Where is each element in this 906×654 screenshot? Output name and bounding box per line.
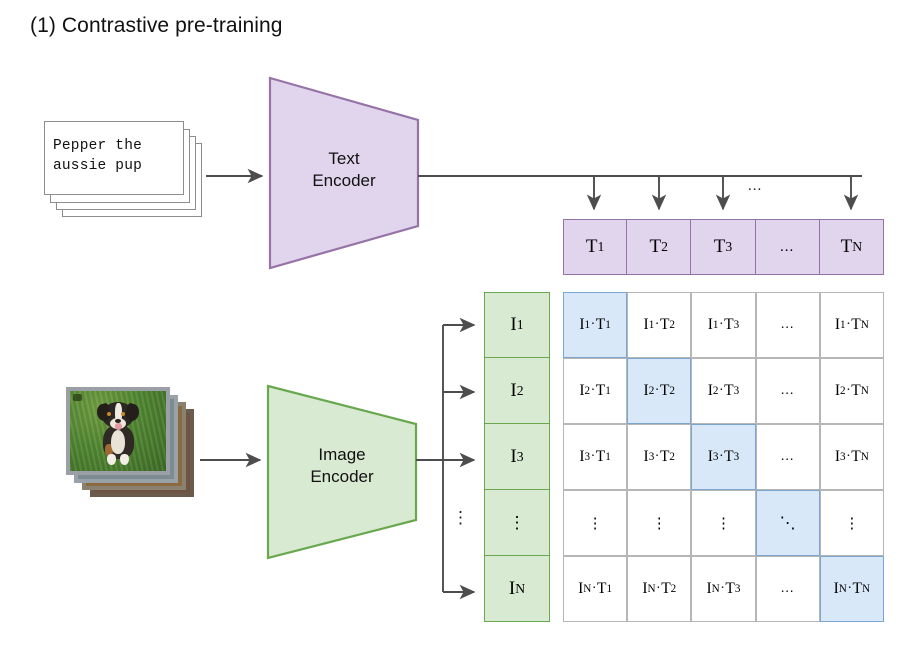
matrix-cell-r5-c3: IN·T3: [691, 556, 755, 622]
image-photo-stack: [66, 387, 196, 502]
image-embedding-distribution-wires: [416, 325, 474, 592]
text-embedding-ellipsis: ...: [748, 178, 762, 195]
text-encoder-label: Text Encoder: [268, 148, 420, 192]
image-embedding-cell-5: IN: [484, 556, 550, 622]
caption-card-front: Pepper the aussie pup: [44, 121, 184, 195]
matrix-cell-r1-c2: I1·T2: [627, 292, 691, 358]
image-embedding-column: I1I2I3⋮IN: [484, 292, 550, 622]
image-encoder-line-2: Encoder: [266, 466, 418, 488]
matrix-cell-r2-c2: I2·T2: [627, 358, 691, 424]
puppy-illustration: [94, 402, 142, 468]
matrix-cell-r3-c3: I3·T3: [691, 424, 755, 490]
matrix-cell-r5-c5: IN·TN: [820, 556, 884, 622]
image-embedding-cell-1: I1: [484, 292, 550, 358]
matrix-cell-r3-c2: I3·T2: [627, 424, 691, 490]
matrix-cell-r2-c5: I2·TN: [820, 358, 884, 424]
similarity-matrix: I1·T1I1·T2I1·T3...I1·TNI2·T1I2·T2I2·T3..…: [563, 292, 884, 622]
text-embedding-row: T1T2T3...TN: [563, 219, 884, 275]
matrix-cell-r2-c4: ...: [756, 358, 820, 424]
text-encoder-line-1: Text: [268, 148, 420, 170]
text-embedding-cell-3: T3: [691, 219, 755, 275]
matrix-cell-r5-c2: IN·T2: [627, 556, 691, 622]
matrix-cell-r1-c5: I1·TN: [820, 292, 884, 358]
photo-front-puppy: [66, 387, 170, 475]
matrix-cell-r4-c3: ⋮: [691, 490, 755, 556]
text-encoder-block[interactable]: Text Encoder: [268, 76, 420, 270]
caption-text: Pepper the aussie pup: [53, 136, 177, 176]
matrix-cell-r4-c4: ⋱: [756, 490, 820, 556]
matrix-cell-r2-c1: I2·T1: [563, 358, 627, 424]
matrix-cell-r3-c1: I3·T1: [563, 424, 627, 490]
matrix-cell-r1-c4: ...: [756, 292, 820, 358]
caption-line-2: aussie pup: [53, 156, 177, 176]
image-embedding-cell-4: ⋮: [484, 490, 550, 556]
matrix-cell-r1-c3: I1·T3: [691, 292, 755, 358]
text-embedding-cell-5: TN: [820, 219, 884, 275]
image-embedding-cell-3: I3: [484, 424, 550, 490]
text-embedding-cell-4: ...: [756, 219, 820, 275]
text-embedding-cell-2: T2: [627, 219, 691, 275]
matrix-cell-r5-c4: ...: [756, 556, 820, 622]
matrix-cell-r1-c1: I1·T1: [563, 292, 627, 358]
matrix-cell-r4-c1: ⋮: [563, 490, 627, 556]
matrix-cell-r3-c4: ...: [756, 424, 820, 490]
matrix-cell-r4-c5: ⋮: [820, 490, 884, 556]
text-encoder-line-2: Encoder: [268, 170, 420, 192]
text-embedding-distribution-wires: [418, 176, 862, 209]
image-embedding-ellipsis: ⋮: [452, 508, 469, 528]
text-caption-stack: Pepper the aussie pup: [44, 121, 202, 217]
matrix-cell-r2-c3: I2·T3: [691, 358, 755, 424]
matrix-cell-r4-c2: ⋮: [627, 490, 691, 556]
matrix-cell-r3-c5: I3·TN: [820, 424, 884, 490]
image-embedding-cell-2: I2: [484, 358, 550, 424]
image-encoder-block[interactable]: Image Encoder: [266, 384, 418, 560]
caption-line-1: Pepper the: [53, 136, 177, 156]
photo-corner-shadow: [73, 394, 82, 401]
matrix-cell-r5-c1: IN·T1: [563, 556, 627, 622]
image-encoder-label: Image Encoder: [266, 444, 418, 488]
text-embedding-cell-1: T1: [563, 219, 627, 275]
page-title: (1) Contrastive pre-training: [30, 14, 283, 38]
image-encoder-line-1: Image: [266, 444, 418, 466]
